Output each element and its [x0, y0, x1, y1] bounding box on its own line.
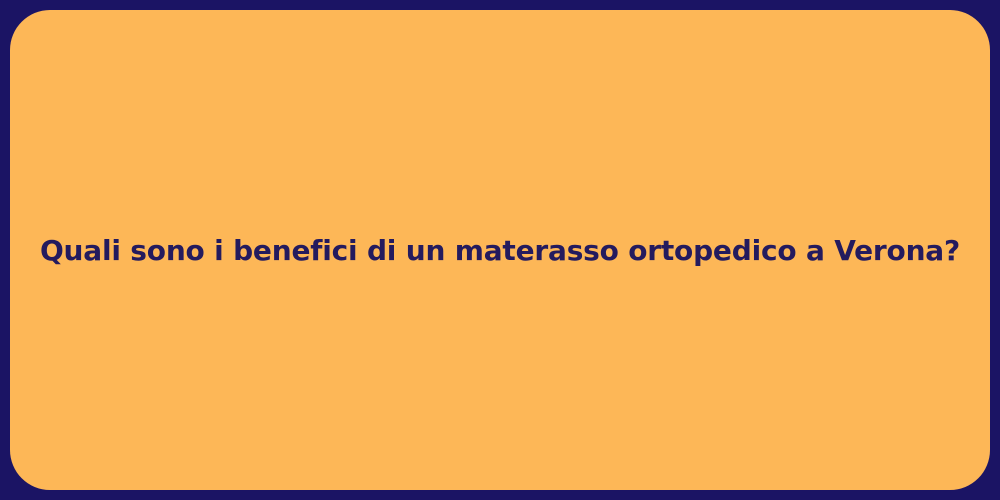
question-title: Quali sono i benefici di un materasso or… — [40, 233, 960, 268]
page-frame: Quali sono i benefici di un materasso or… — [0, 0, 1000, 500]
question-card: Quali sono i benefici di un materasso or… — [10, 10, 990, 490]
